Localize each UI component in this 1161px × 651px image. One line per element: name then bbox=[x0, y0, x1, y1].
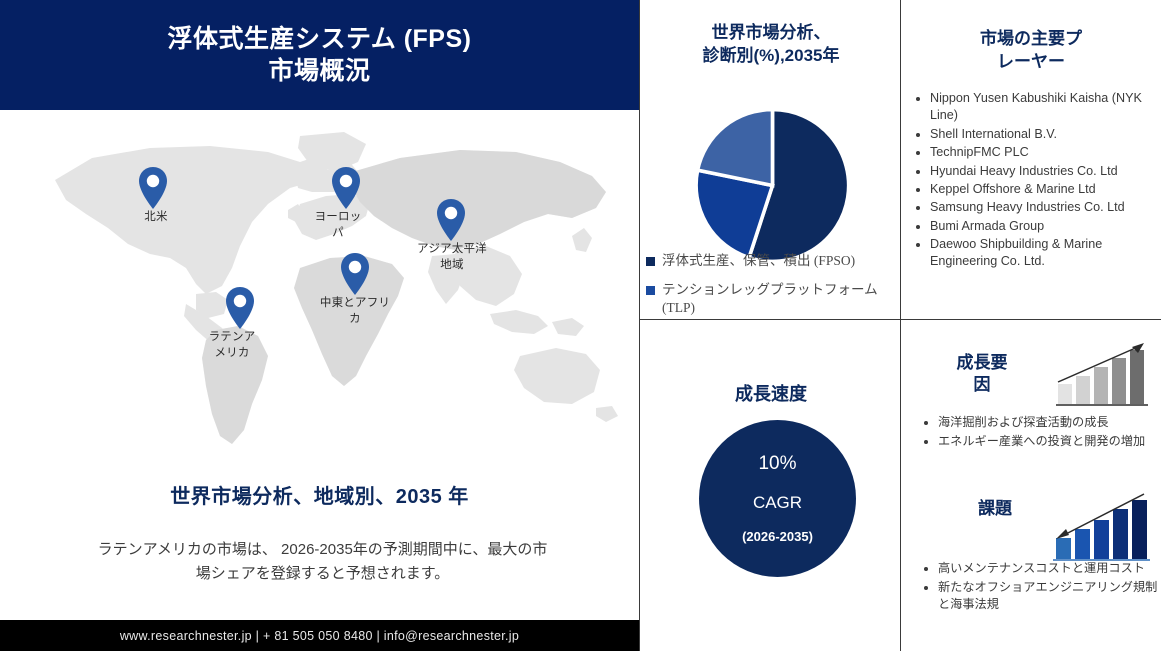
left-panel: 浮体式生産システム (FPS) 市場概況 bbox=[0, 0, 640, 651]
cagr-metric: CAGR bbox=[753, 493, 802, 513]
infographic-page: 浮体式生産システム (FPS) 市場概況 bbox=[0, 0, 1161, 651]
drivers-title: 成長要 因 bbox=[937, 352, 1027, 396]
region-analysis-subtitle: 世界市場分析、地域別、2035 年 bbox=[0, 480, 639, 509]
map-label-north-america: 北米 bbox=[119, 210, 193, 226]
growth-rate-title: 成長速度 bbox=[646, 382, 896, 406]
legend-item-tlp: テンションレッグプラットフォーム (TLP) bbox=[646, 281, 911, 317]
footer-contact: www.researchnester.jp | + 81 505 050 848… bbox=[120, 629, 519, 643]
region-analysis-description: ラテンアメリカの市場は、 2026-2035年の予測期間中に、最大の市場シェアを… bbox=[95, 538, 550, 586]
page-title: 浮体式生産システム (FPS) 市場概況 bbox=[168, 23, 472, 87]
cagr-period: (2026-2035) bbox=[742, 529, 813, 544]
drivers-title-line2: 因 bbox=[937, 374, 1027, 396]
legend-item-fpso: 浮体式生産、保管、積出 (FPSO) bbox=[646, 252, 911, 270]
players-panel-title: 市場の主要プ レーヤー bbox=[910, 28, 1152, 74]
drivers-chart-svg bbox=[1052, 338, 1152, 410]
page-title-line1: 浮体式生産システム (FPS) bbox=[168, 23, 472, 55]
page-header: 浮体式生産システム (FPS) 市場概況 bbox=[0, 0, 639, 110]
players-list: Nippon Yusen Kabushiki Kaisha (NYK Line)… bbox=[912, 90, 1161, 272]
segment-legend: 浮体式生産、保管、積出 (FPSO) テンションレッグプラットフォーム (TLP… bbox=[646, 252, 911, 329]
list-item: Daewoo Shipbuilding & Marine Engineering… bbox=[930, 236, 1161, 271]
challenges-bar-chart bbox=[1048, 488, 1153, 566]
map-label-middle-east-africa: 中東とアフリカ bbox=[318, 296, 392, 327]
list-item: 新たなオフショアエンジニアリング規制と海事法規 bbox=[938, 579, 1160, 613]
list-item: 高いメンテナンスコストと運用コスト bbox=[938, 560, 1160, 577]
segment-title-line2: 診断別(%),2035年 bbox=[646, 45, 896, 68]
challenges-title: 課題 bbox=[950, 498, 1040, 520]
map-label-asia-pacific: アジア太平洋地域 bbox=[413, 242, 491, 273]
map-label-latin-america: ラテンアメリカ bbox=[208, 330, 256, 361]
list-item: TechnipFMC PLC bbox=[930, 144, 1161, 161]
footer-bar: www.researchnester.jp | + 81 505 050 848… bbox=[0, 620, 639, 651]
list-item: 海洋掘削および探査活動の成長 bbox=[938, 414, 1160, 431]
cagr-circle: 10% CAGR (2026-2035) bbox=[699, 420, 856, 577]
list-item: Keppel Offshore & Marine Ltd bbox=[930, 181, 1161, 198]
list-item: エネルギー産業への投資と開発の増加 bbox=[938, 433, 1160, 450]
players-title-line1: 市場の主要プ bbox=[910, 28, 1152, 51]
map-label-europe: ヨーロッパ bbox=[309, 210, 367, 241]
legend-swatch-fpso bbox=[646, 257, 655, 266]
legend-label-tlp: テンションレッグプラットフォーム (TLP) bbox=[662, 281, 911, 317]
list-item: Shell International B.V. bbox=[930, 126, 1161, 143]
map-pin-middle-east-africa[interactable] bbox=[339, 252, 371, 296]
world-map: 北米 ヨーロッパ アジア太平洋地域 中東とアフリカ ラテンアメリカ bbox=[0, 118, 639, 448]
map-pin-europe[interactable] bbox=[330, 166, 362, 210]
world-map-shapes bbox=[0, 118, 639, 448]
list-item: Nippon Yusen Kabushiki Kaisha (NYK Line) bbox=[930, 90, 1161, 125]
segment-title-line1: 世界市場分析、 bbox=[646, 22, 896, 45]
map-pin-north-america[interactable] bbox=[137, 166, 169, 210]
segment-panel-title: 世界市場分析、 診断別(%),2035年 bbox=[646, 22, 896, 68]
drivers-title-line1: 成長要 bbox=[937, 352, 1027, 374]
drivers-bar-chart bbox=[1052, 338, 1152, 410]
players-title-line2: レーヤー bbox=[910, 51, 1152, 74]
challenges-list: 高いメンテナンスコストと運用コスト 新たなオフショアエンジニアリング規制と海事法… bbox=[918, 560, 1160, 615]
pie-svg bbox=[690, 103, 855, 268]
list-item: Samsung Heavy Industries Co. Ltd bbox=[930, 199, 1161, 216]
segment-pie-chart bbox=[690, 103, 855, 268]
map-pin-asia-pacific[interactable] bbox=[435, 198, 467, 242]
legend-label-fpso: 浮体式生産、保管、積出 (FPSO) bbox=[662, 252, 855, 270]
legend-swatch-tlp bbox=[646, 286, 655, 295]
drivers-list: 海洋掘削および探査活動の成長 エネルギー産業への投資と開発の増加 bbox=[918, 414, 1160, 452]
challenges-chart-svg bbox=[1048, 488, 1153, 566]
list-item: Hyundai Heavy Industries Co. Ltd bbox=[930, 163, 1161, 180]
page-title-line2: 市場概況 bbox=[168, 55, 472, 87]
map-pin-latin-america[interactable] bbox=[224, 286, 256, 330]
list-item: Bumi Armada Group bbox=[930, 218, 1161, 235]
cagr-percent: 10% bbox=[758, 453, 796, 475]
